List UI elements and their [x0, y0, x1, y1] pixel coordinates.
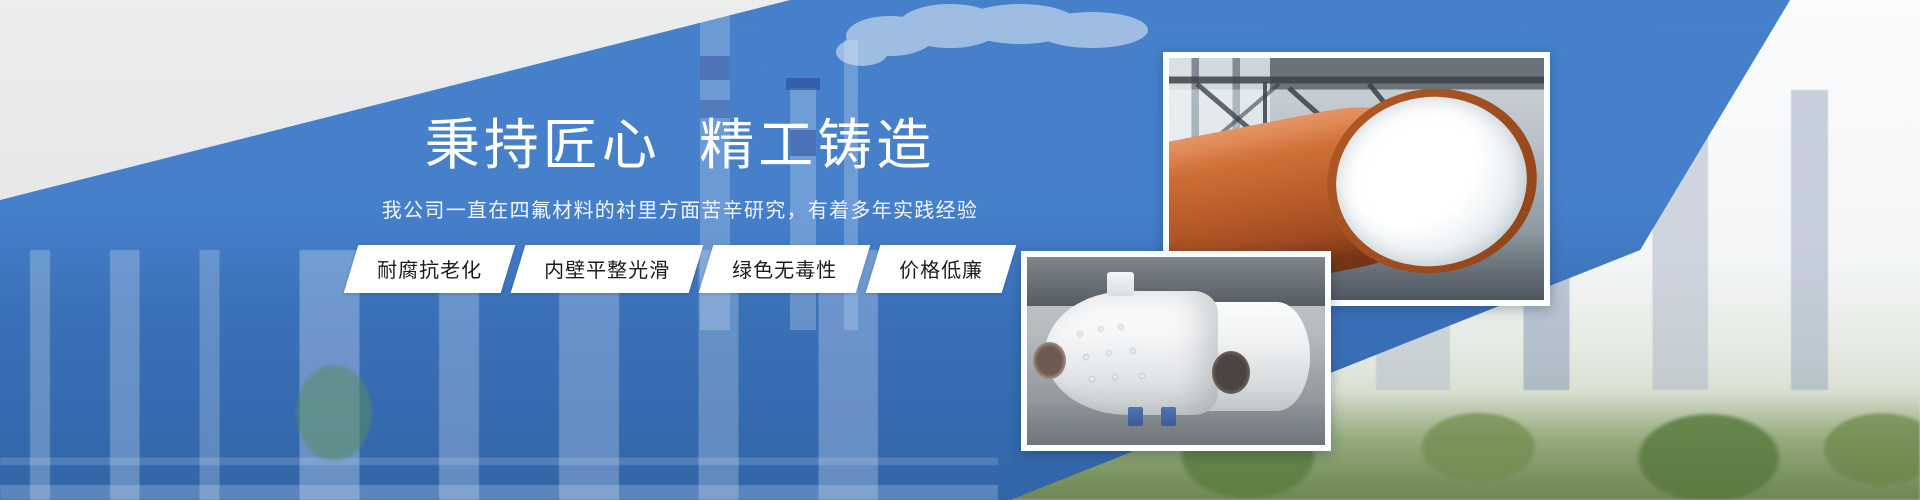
feature-tag[interactable]: 耐腐抗老化: [344, 245, 516, 293]
feature-tag[interactable]: 价格低廉: [866, 245, 1017, 293]
feature-tag-label: 绿色无毒性: [732, 254, 837, 283]
feature-tag-label: 耐腐抗老化: [377, 254, 482, 283]
banner-copy: 秉持匠心 精工铸造 我公司一直在四氟材料的衬里方面苦辛研究，有着多年实践经验 耐…: [300, 115, 1060, 293]
feature-tag[interactable]: 内壁平整光滑: [511, 245, 704, 293]
page-title: 秉持匠心 精工铸造: [300, 115, 1060, 177]
tank-support-foot: [1161, 407, 1176, 426]
product-photo-white-storage-vessel[interactable]: [1021, 251, 1331, 451]
tank-support-foot: [1128, 407, 1143, 426]
hero-banner: 秉持匠心 精工铸造 我公司一直在四氟材料的衬里方面苦辛研究，有着多年实践经验 耐…: [0, 0, 1920, 500]
feature-tag-label: 内壁平整光滑: [544, 254, 670, 283]
feature-tag-label: 价格低廉: [899, 254, 983, 283]
tank-side-port-left: [1033, 342, 1066, 380]
feature-tag-list: 耐腐抗老化 内壁平整光滑 绿色无毒性 价格低廉: [300, 245, 1060, 293]
page-subtitle: 我公司一直在四氟材料的衬里方面苦辛研究，有着多年实践经验: [300, 194, 1060, 223]
feature-tag[interactable]: 绿色无毒性: [699, 245, 871, 293]
tank-top-nozzle: [1107, 272, 1134, 296]
